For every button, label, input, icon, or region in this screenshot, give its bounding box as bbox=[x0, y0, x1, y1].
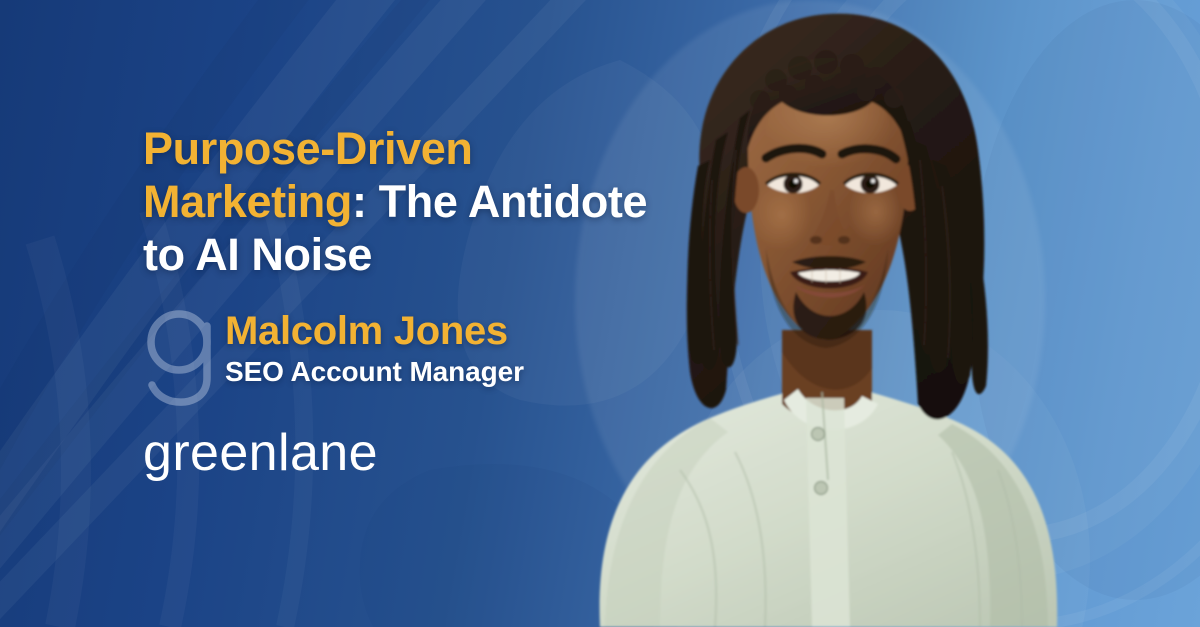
speaker-block: Malcolm Jones SEO Account Manager bbox=[143, 308, 663, 404]
greenlane-wordmark-logo: greenlane bbox=[143, 428, 393, 486]
content-block: Purpose-Driven Marketing: The Antidote t… bbox=[143, 0, 663, 627]
greenlane-g-monogram-icon bbox=[143, 306, 219, 406]
page-title: Purpose-Driven Marketing: The Antidote t… bbox=[143, 122, 673, 281]
speaker-text: Malcolm Jones SEO Account Manager bbox=[225, 308, 524, 389]
speaker-role: SEO Account Manager bbox=[225, 355, 524, 389]
speaker-name: Malcolm Jones bbox=[225, 308, 524, 354]
wordmark-text: greenlane bbox=[143, 428, 378, 482]
promo-banner: Purpose-Driven Marketing: The Antidote t… bbox=[0, 0, 1200, 627]
